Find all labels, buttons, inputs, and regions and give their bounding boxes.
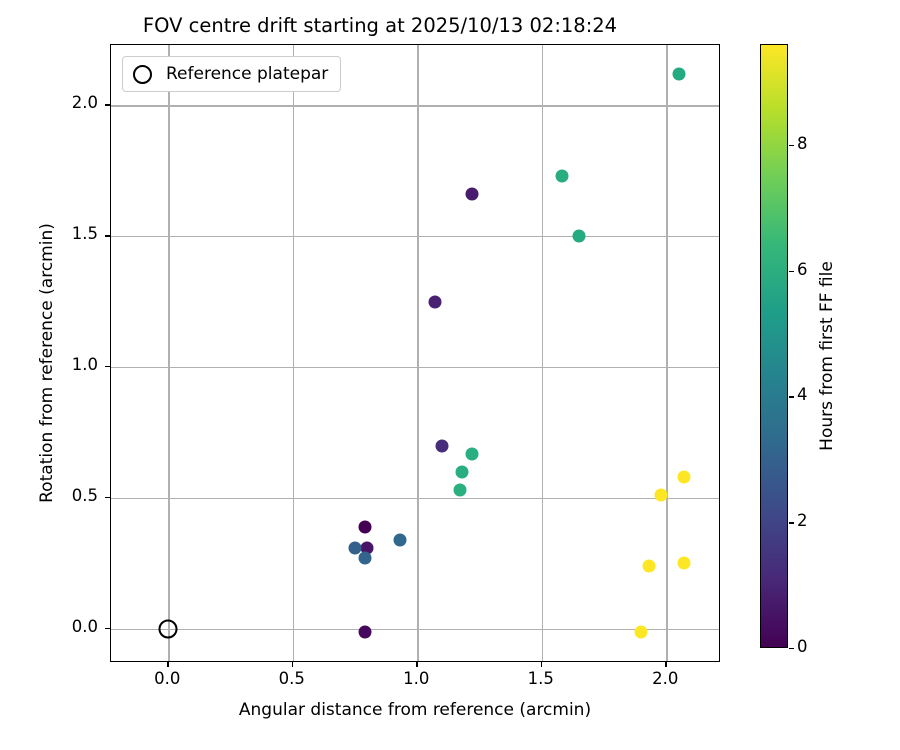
plot-area [110, 44, 720, 662]
x-axis-label: Angular distance from reference (arcmin) [110, 700, 720, 720]
data-point [466, 447, 479, 460]
x-tick-label: 0.5 [262, 669, 322, 688]
data-point [642, 560, 655, 573]
colorbar-gradient [760, 44, 788, 648]
colorbar-tick-mark [789, 648, 794, 649]
data-point [635, 625, 648, 638]
y-tick-label: 1.5 [52, 224, 98, 243]
data-point [358, 625, 371, 638]
colorbar-tick-mark [789, 522, 794, 523]
data-point [393, 533, 406, 546]
x-tick-mark [541, 662, 542, 667]
data-point [573, 230, 586, 243]
x-tick-mark [292, 662, 293, 667]
colorbar-tick-mark [789, 271, 794, 272]
y-tick-label: 2.0 [52, 93, 98, 112]
colorbar-tick-label: 4 [797, 385, 808, 404]
data-point [436, 439, 449, 452]
y-tick-mark [105, 497, 110, 498]
y-tick-label: 0.5 [52, 486, 98, 505]
colorbar-tick-label: 8 [797, 134, 808, 153]
colorbar-tick-label: 0 [797, 637, 808, 656]
data-point [453, 484, 466, 497]
x-tick-mark [665, 662, 666, 667]
data-point [466, 188, 479, 201]
data-point [672, 67, 685, 80]
colorbar-tick-label: 6 [797, 260, 808, 279]
y-axis-label: Rotation from reference (arcmin) [37, 54, 57, 672]
legend-label: Reference platepar [166, 64, 328, 84]
data-point [555, 169, 568, 182]
colorbar [760, 44, 788, 648]
y-tick-mark [105, 235, 110, 236]
data-point [456, 465, 469, 478]
colorbar-tick-mark [789, 145, 794, 146]
colorbar-label: Hours from first FF file [817, 54, 837, 658]
data-point [358, 552, 371, 565]
data-point [677, 557, 690, 570]
y-tick-label: 1.0 [52, 355, 98, 374]
legend: Reference platepar [122, 56, 341, 92]
points-layer [111, 45, 719, 661]
x-tick-mark [167, 662, 168, 667]
x-tick-label: 0.0 [137, 669, 197, 688]
colorbar-tick-mark [789, 396, 794, 397]
y-tick-mark [105, 104, 110, 105]
legend-marker-reference-platepar-icon [133, 65, 152, 84]
figure-canvas: FOV centre drift starting at 2025/10/13 … [0, 0, 900, 750]
y-tick-mark [105, 366, 110, 367]
x-tick-label: 2.0 [635, 669, 695, 688]
x-tick-label: 1.0 [386, 669, 446, 688]
colorbar-tick-label: 2 [797, 511, 808, 530]
x-tick-mark [416, 662, 417, 667]
data-point [358, 520, 371, 533]
reference-platepar-marker [159, 619, 178, 638]
chart-title: FOV centre drift starting at 2025/10/13 … [0, 14, 760, 37]
data-point [655, 489, 668, 502]
data-point [349, 541, 362, 554]
y-tick-mark [105, 628, 110, 629]
data-point [428, 295, 441, 308]
data-point [677, 471, 690, 484]
x-tick-label: 1.5 [511, 669, 571, 688]
y-tick-label: 0.0 [52, 617, 98, 636]
